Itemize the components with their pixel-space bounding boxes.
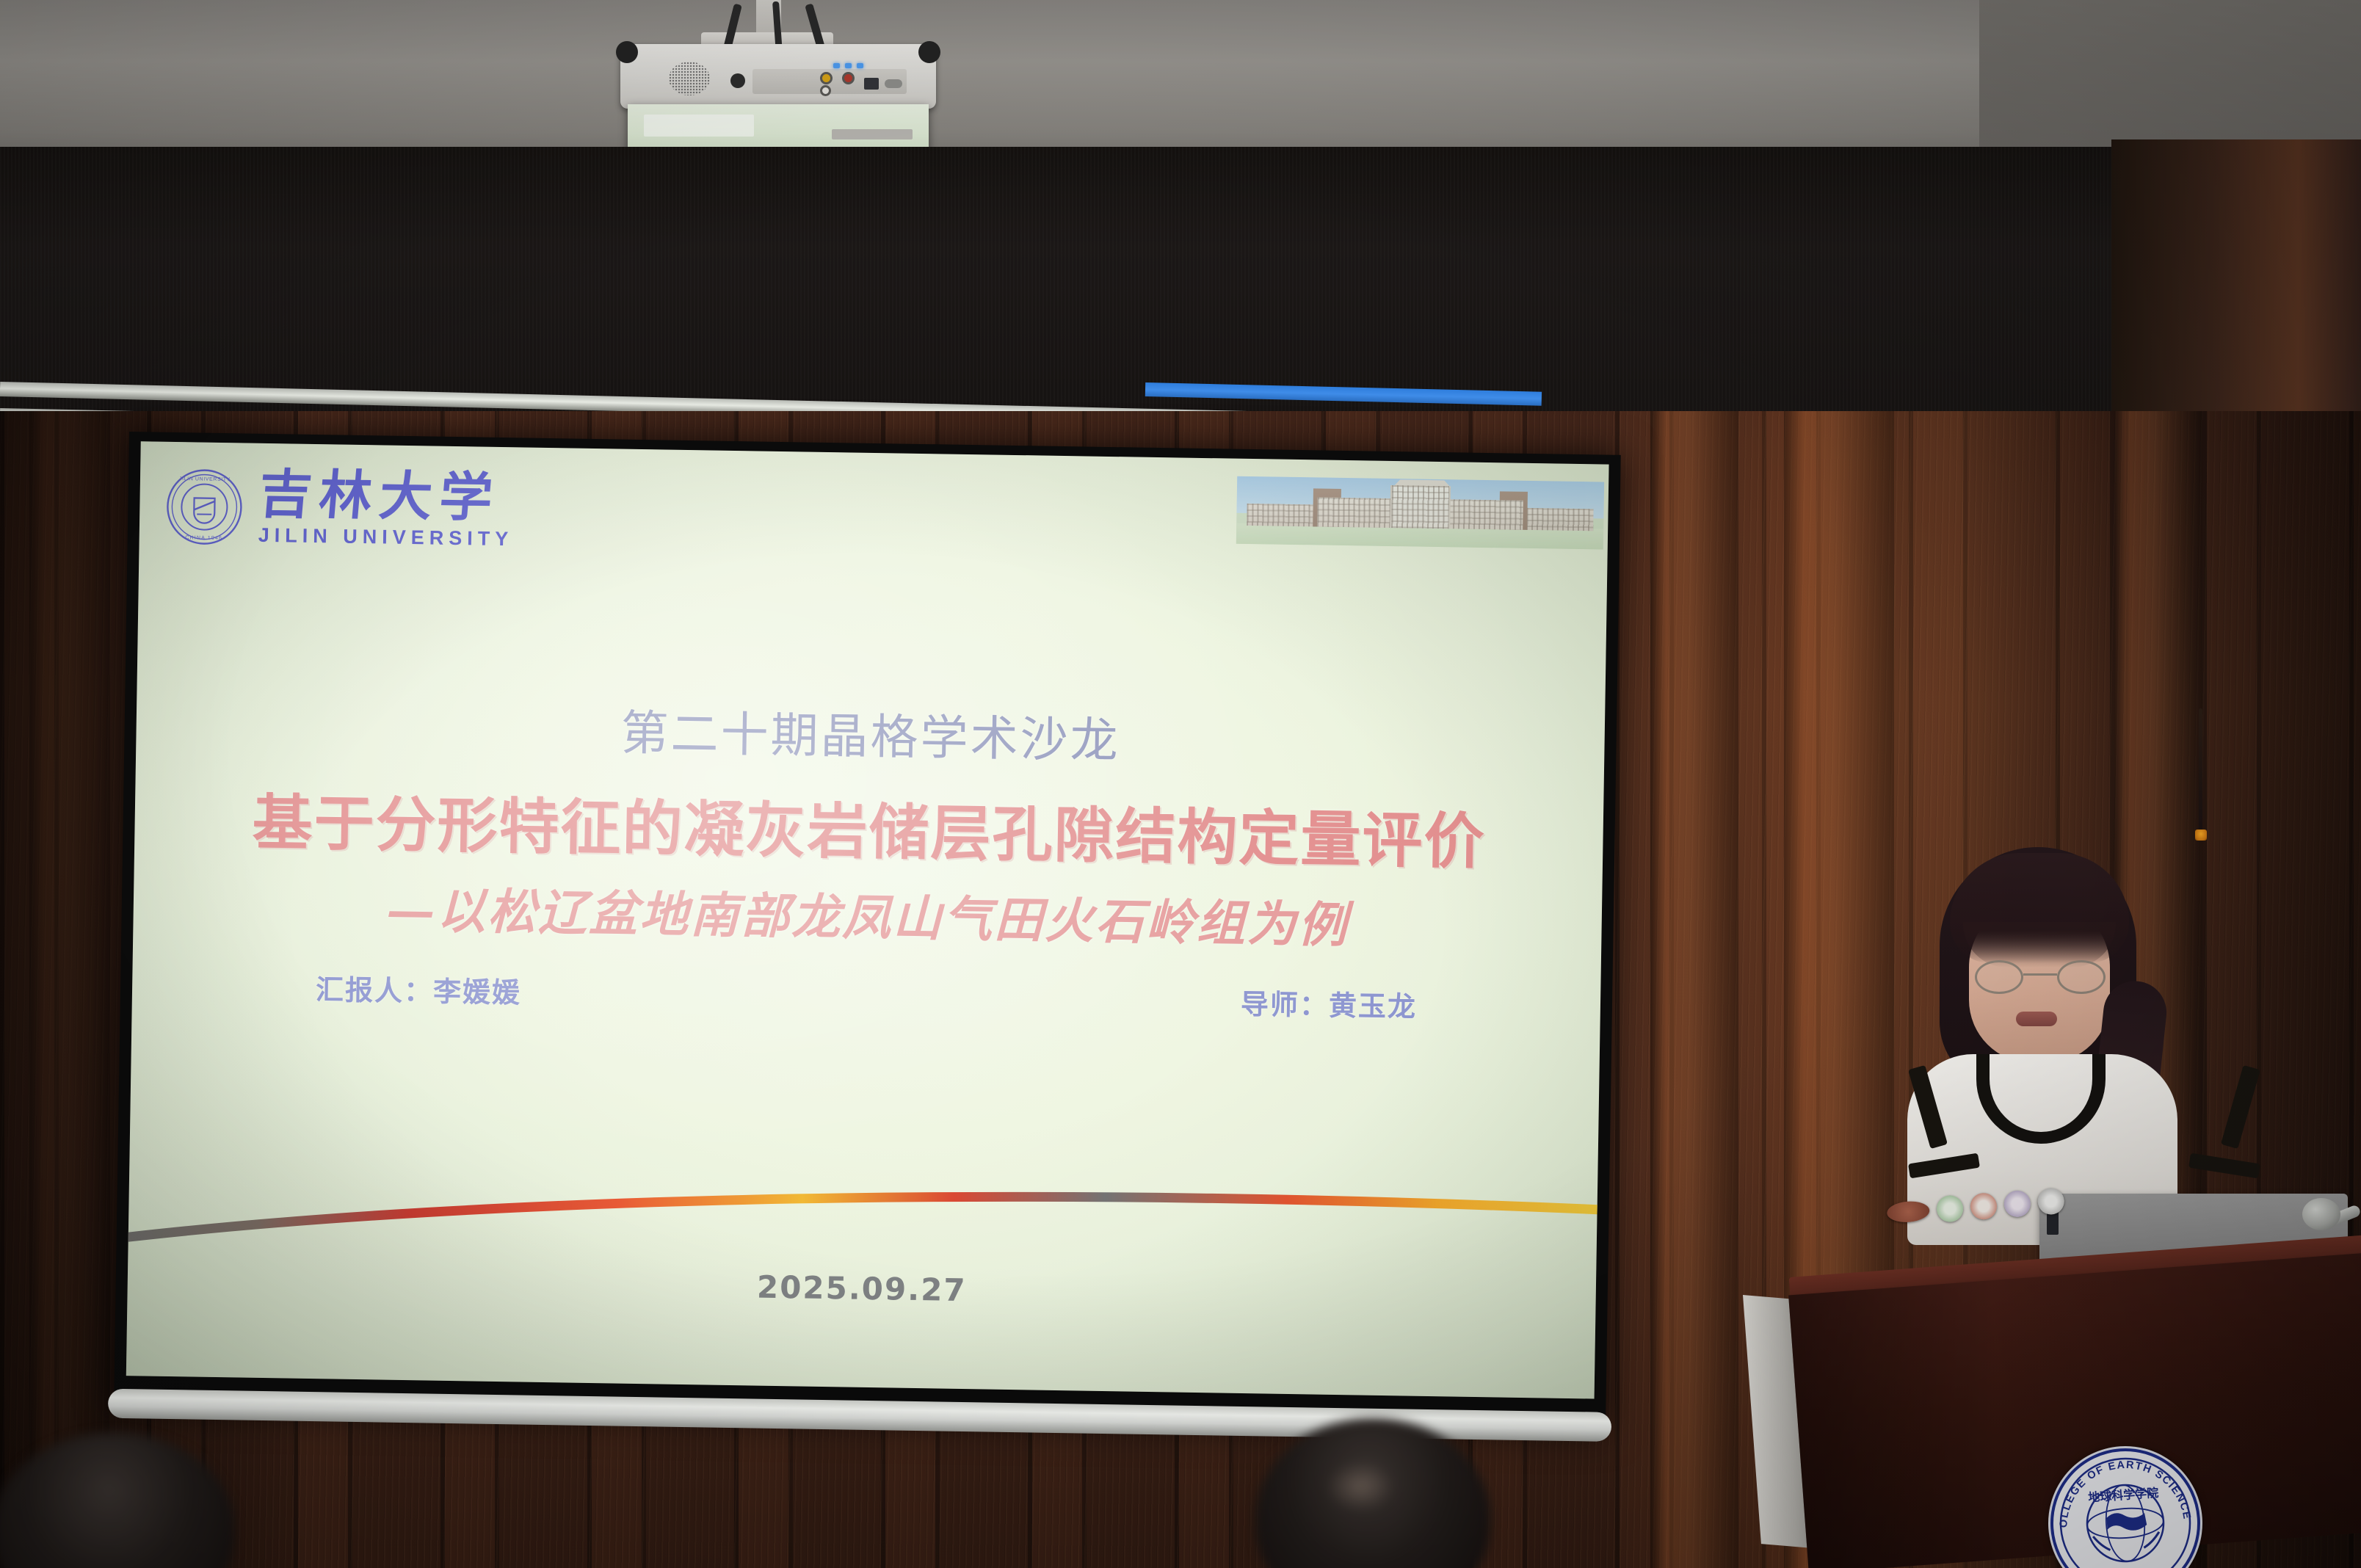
lectern-badge-1 (1886, 1200, 1930, 1224)
projection-screen[interactable]: JILIN UNIVERSITY CHINA 1946 吉林大学 JILIN U… (114, 432, 1621, 1431)
projector-body (620, 44, 936, 109)
lectern-badge-3 (1970, 1192, 1998, 1221)
jilin-university-seal-icon: JILIN UNIVERSITY CHINA 1946 (166, 468, 244, 545)
projector-port-yellow (820, 72, 833, 84)
projector-port-vga (885, 79, 902, 88)
projector-speaker-grille (669, 62, 710, 95)
presenter-sleeve-cuff-right (2188, 1153, 2260, 1179)
projector-port-panel (752, 69, 907, 94)
projector-label-sticker (644, 115, 754, 137)
screen-black-border: JILIN UNIVERSITY CHINA 1946 吉林大学 JILIN U… (114, 432, 1621, 1431)
slide-date: 2025.09.27 (128, 1259, 1597, 1318)
logo-chinese-name: 吉林大学 (257, 468, 517, 525)
lectern-badge-4 (2003, 1190, 2032, 1219)
slide-byline: 汇报人：李媛媛 导师：黄玉龙 (316, 967, 1418, 1025)
presenter-mouth (2016, 1012, 2057, 1026)
svg-text:JILIN UNIVERSITY: JILIN UNIVERSITY (179, 476, 231, 482)
svg-text:CHINA 1946: CHINA 1946 (185, 535, 222, 541)
lectern-badge-5 (2037, 1187, 2065, 1216)
projector-foot-left (616, 41, 638, 63)
projector-vent (832, 129, 913, 139)
campus-building-photo (1236, 476, 1604, 550)
presenter-bangs (1950, 853, 2129, 963)
projector-foot-right (918, 41, 940, 63)
photo-building-far-right (1521, 508, 1593, 531)
presentation-slide: JILIN UNIVERSITY CHINA 1946 吉林大学 JILIN U… (126, 441, 1609, 1398)
glasses-bridge (2023, 973, 2057, 976)
microphone-icon[interactable] (2302, 1198, 2340, 1230)
lecture-room-scene: JILIN UNIVERSITY CHINA 1946 吉林大学 JILIN U… (0, 0, 2361, 1568)
slide-kicker: 第二十期晶格学术沙龙 (136, 686, 1605, 778)
projector-led-power (833, 63, 840, 68)
slide-title: 基于分形特征的凝灰岩储层孔隙结构定量评价 (134, 772, 1604, 882)
projector-port-usb (864, 78, 879, 90)
lectern-badge-2 (1936, 1194, 1965, 1223)
projector-port-red (842, 72, 855, 84)
photo-building-center (1390, 485, 1451, 529)
logo-english-name: JILIN UNIVERSITY (258, 524, 514, 551)
glasses-lens-left (1975, 960, 2023, 994)
projector-port-white (820, 85, 831, 96)
advisor-label: 导师：黄玉龙 (1241, 981, 1418, 1025)
projector-led-temp (857, 63, 863, 68)
logo-text-stack: 吉林大学 JILIN UNIVERSITY (258, 468, 515, 551)
glasses-lens-right (2057, 960, 2106, 994)
projector-led-lamp (845, 63, 852, 68)
presenter-label: 汇报人：李媛媛 (316, 967, 522, 1010)
slide-subtitle: —以松辽盆地南部龙凤山气田火石岭组为例 (133, 867, 1602, 960)
presenter-shoulder-stripe-right (2221, 1065, 2260, 1149)
soffit-right-wood-trim (2111, 139, 2361, 433)
presenter-glasses-icon (1972, 960, 2108, 994)
photo-building-far-left (1247, 504, 1319, 527)
lectern-area: COLLEGE OF EARTH SCIENCES 地球科学学院 (1806, 837, 2361, 1568)
ceiling-cable (2199, 708, 2202, 833)
projector-status-leds (833, 63, 863, 68)
university-logo: JILIN UNIVERSITY CHINA 1946 吉林大学 JILIN U… (166, 467, 515, 551)
projector-focus-knob[interactable] (730, 73, 745, 88)
screen-projection-surface: JILIN UNIVERSITY CHINA 1946 吉林大学 JILIN U… (126, 441, 1609, 1398)
